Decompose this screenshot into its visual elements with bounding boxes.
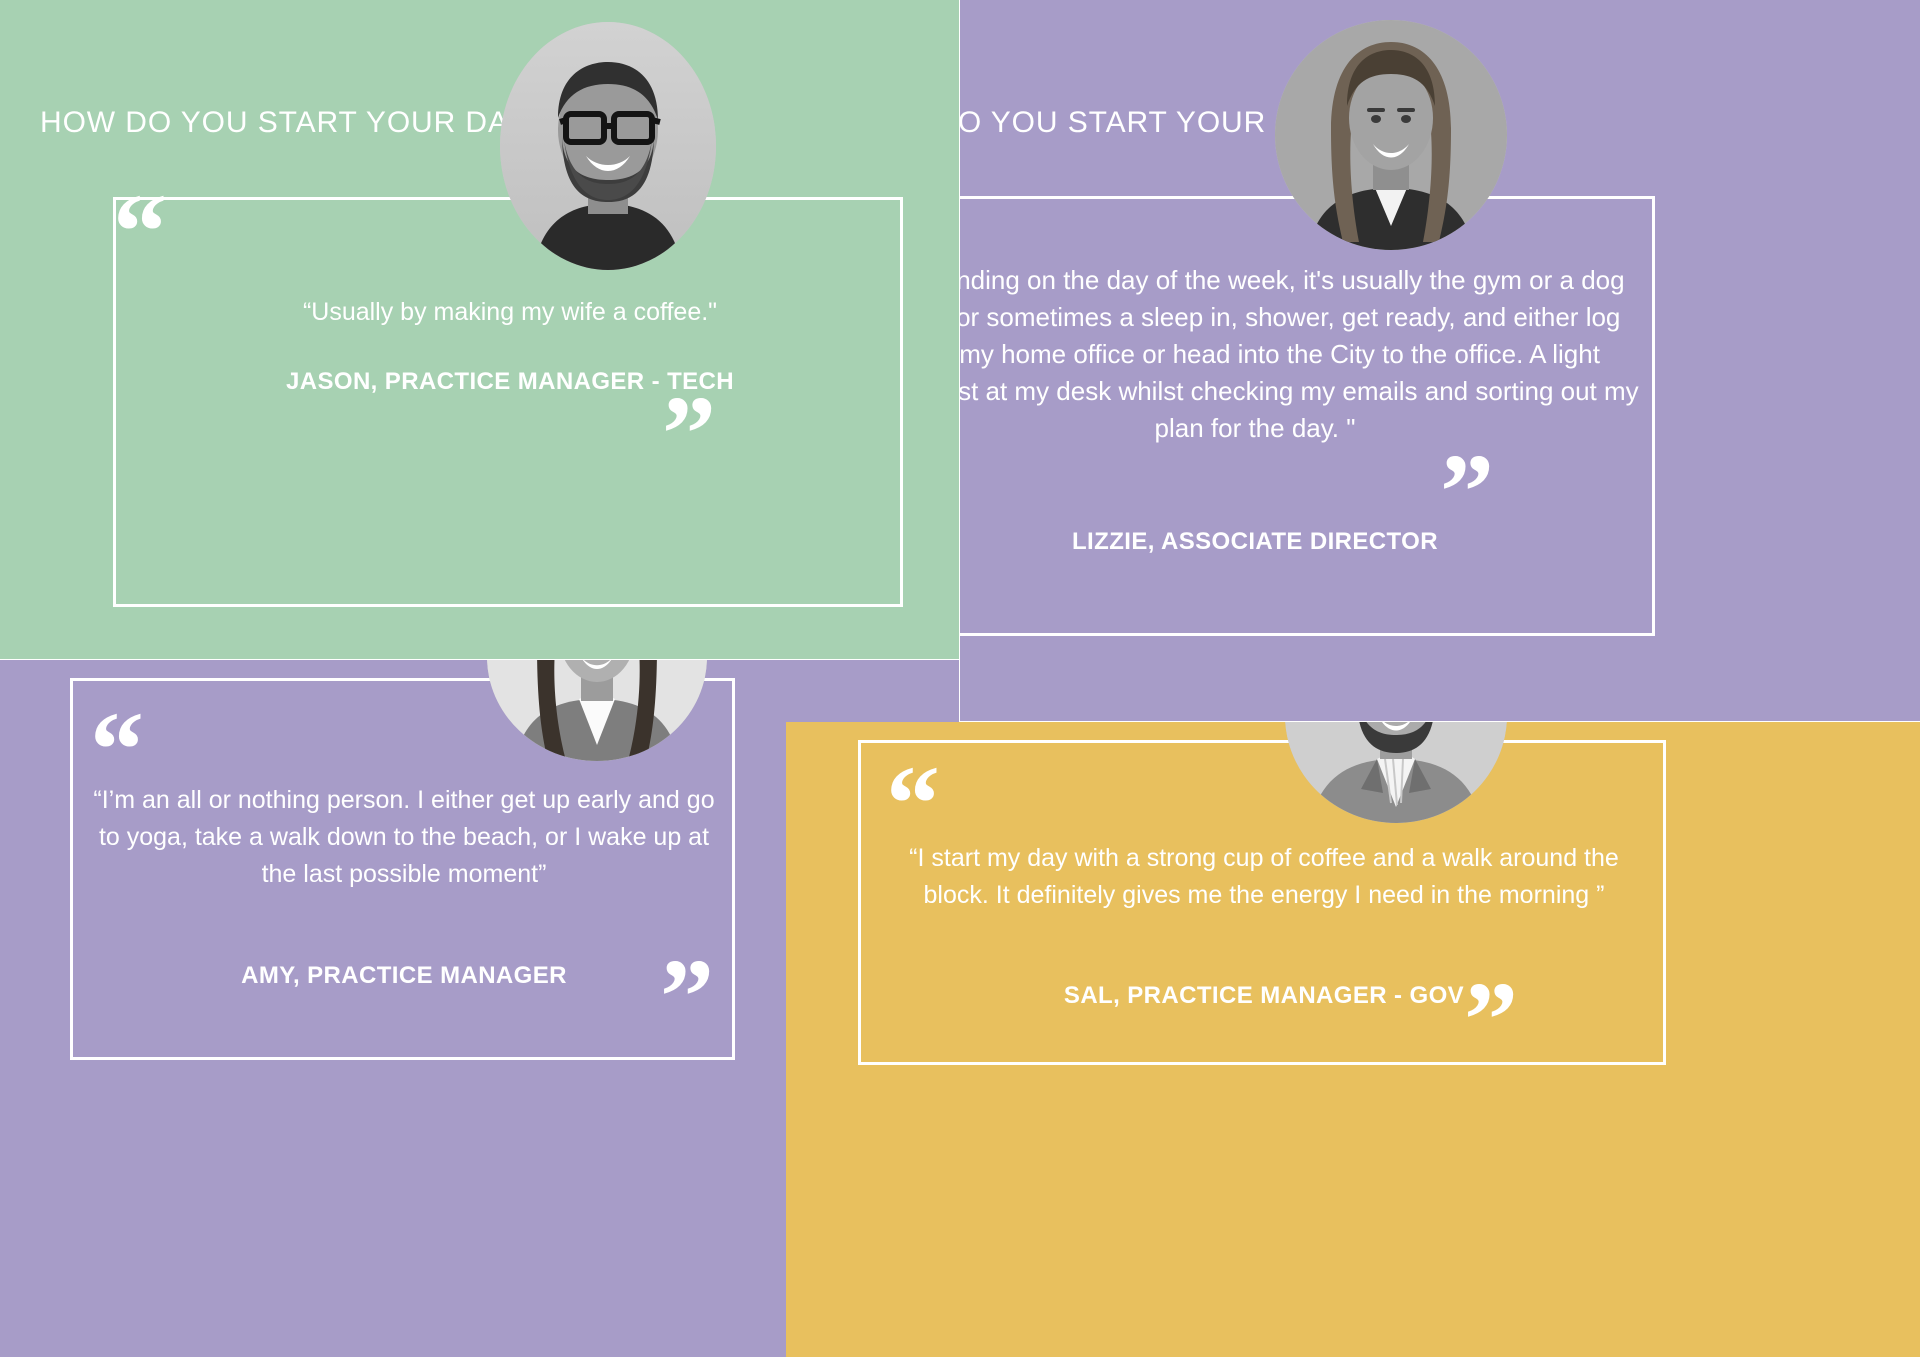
card-sal	[786, 722, 1920, 1357]
card-jason-quote-frame	[113, 197, 903, 607]
avatar-jason	[500, 22, 716, 270]
testimonial-collage: HOW DO YOU START YOUR DAY? “ “Usually by…	[0, 0, 1920, 1357]
card-jason: HOW DO YOU START YOUR DAY? “ “Usually by…	[0, 0, 959, 659]
card-lizzie	[960, 0, 1920, 721]
card-jason-attribution: JASON, PRACTICE MANAGER - TECH	[130, 368, 890, 396]
quote-close-icon: ”	[662, 392, 716, 478]
quote-open-icon: “	[113, 190, 167, 276]
card-jason-heading: HOW DO YOU START YOUR DAY?	[40, 108, 545, 138]
card-jason-quote-text: “Usually by making my wife a coffee."	[130, 292, 890, 332]
